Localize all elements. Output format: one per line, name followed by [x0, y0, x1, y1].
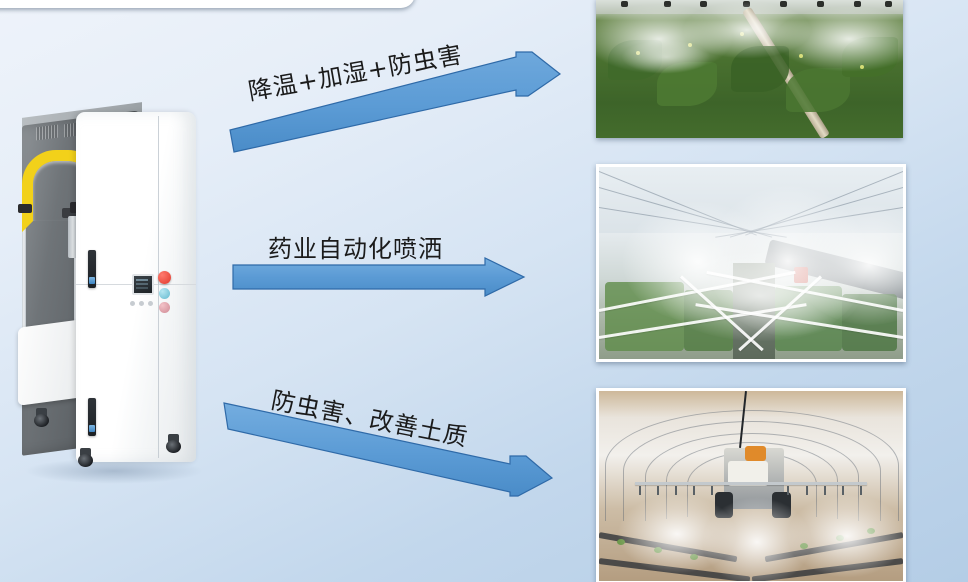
arrow-auto-spray: [232, 258, 532, 308]
emergency-stop-button[interactable]: [158, 271, 171, 284]
door-handle-lower[interactable]: [88, 398, 96, 436]
secondary-button[interactable]: [159, 288, 170, 299]
fog: [660, 251, 860, 341]
photo-greenhouse-corridor-fogging: [596, 164, 906, 362]
photo-scene: [599, 391, 903, 581]
title-bar: [0, 0, 415, 8]
cabinet-edge-line: [158, 116, 159, 458]
hose-fitting: [18, 204, 32, 213]
indicator-lamps: [130, 301, 156, 306]
spray-boom: [635, 482, 866, 485]
arrow-auto-spray-label: 药业自动化喷洒: [268, 229, 443, 264]
door-handle-upper[interactable]: [88, 250, 96, 288]
photo-scene: [599, 167, 903, 359]
mist: [774, 6, 903, 72]
caster-wheel: [78, 448, 93, 466]
photo-scene: [596, 0, 903, 138]
mist: [621, 40, 711, 74]
slide-canvas: 降温+加湿+防虫害 药业自动化喷洒: [0, 0, 968, 582]
photo-tomato-greenhouse-misting: [596, 0, 903, 138]
spray-mist: [787, 494, 906, 578]
caster-wheel: [34, 408, 49, 426]
tertiary-button[interactable]: [159, 302, 170, 313]
operator: [745, 446, 766, 461]
vent-grille: [36, 125, 58, 141]
lcd-display: [132, 274, 154, 295]
photo-tunnel-sprayer-boom: [596, 388, 906, 582]
product-illustration: [6, 108, 224, 498]
caster-wheel: [166, 434, 181, 452]
